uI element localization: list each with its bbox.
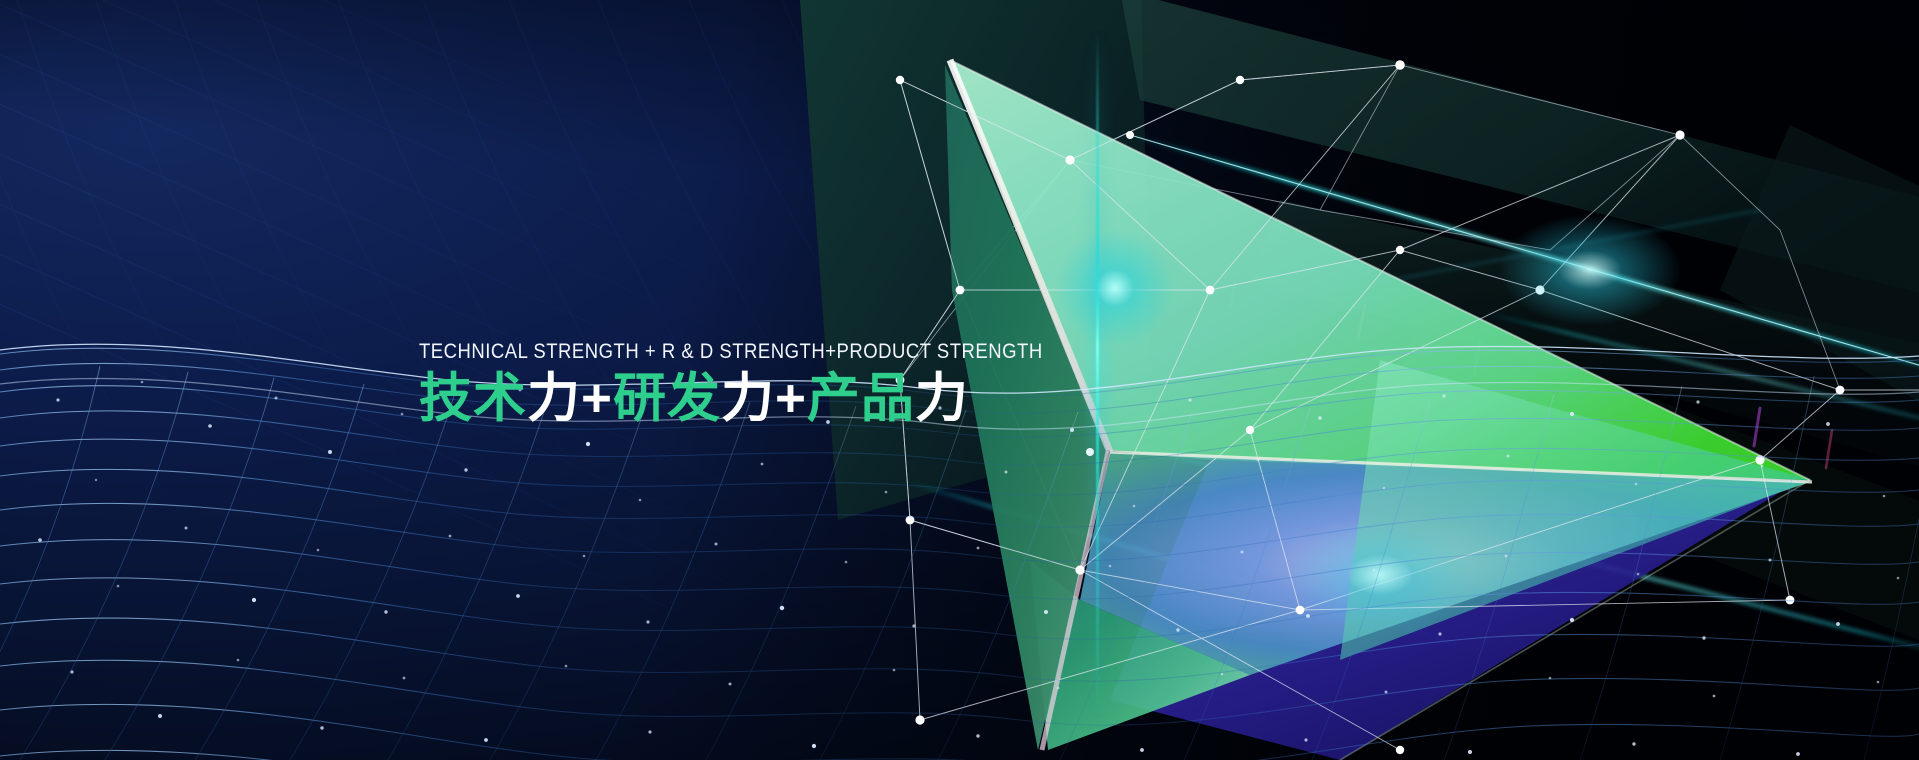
headline-cn-seg-6: 力 — [915, 369, 969, 428]
headline-english: TECHNICAL STRENGTH + R & D STRENGTH+PROD… — [419, 340, 969, 363]
headline-chinese: 技术力+研发力+产品力 — [419, 369, 1059, 428]
headline-cn-plus-2: + — [775, 369, 807, 428]
headline-cn-seg-1: 技术 — [419, 369, 527, 428]
headline-cn-seg-3: 研发 — [613, 369, 721, 428]
headline-cn-seg-2: 力 — [527, 369, 581, 428]
banner-stage: TECHNICAL STRENGTH + R & D STRENGTH+PROD… — [0, 0, 1919, 760]
headline-cn-plus-1: + — [581, 369, 613, 428]
headline-cn-seg-4: 力 — [721, 369, 775, 428]
headline-cn-seg-5: 产品 — [807, 369, 915, 428]
headline-block: TECHNICAL STRENGTH + R & D STRENGTH+PROD… — [419, 340, 1059, 428]
